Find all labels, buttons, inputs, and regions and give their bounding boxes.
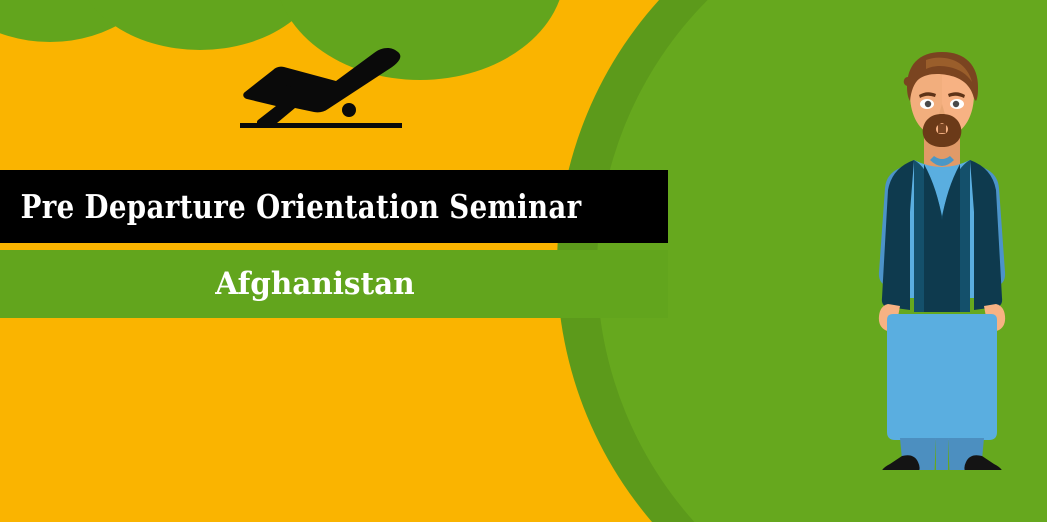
man-illustration-icon — [852, 52, 1032, 470]
airplane-takeoff-icon — [232, 44, 412, 134]
country-band: Afghanistan — [0, 250, 668, 318]
title-band: Pre Departure Orientation Seminar — [0, 170, 668, 243]
poster-canvas: Pre Departure Orientation Seminar Afghan… — [0, 0, 1047, 522]
country-name-text: Afghanistan — [215, 266, 452, 302]
runway-line-icon — [240, 123, 402, 128]
seminar-title-text: Pre Departure Orientation Seminar — [21, 187, 647, 226]
